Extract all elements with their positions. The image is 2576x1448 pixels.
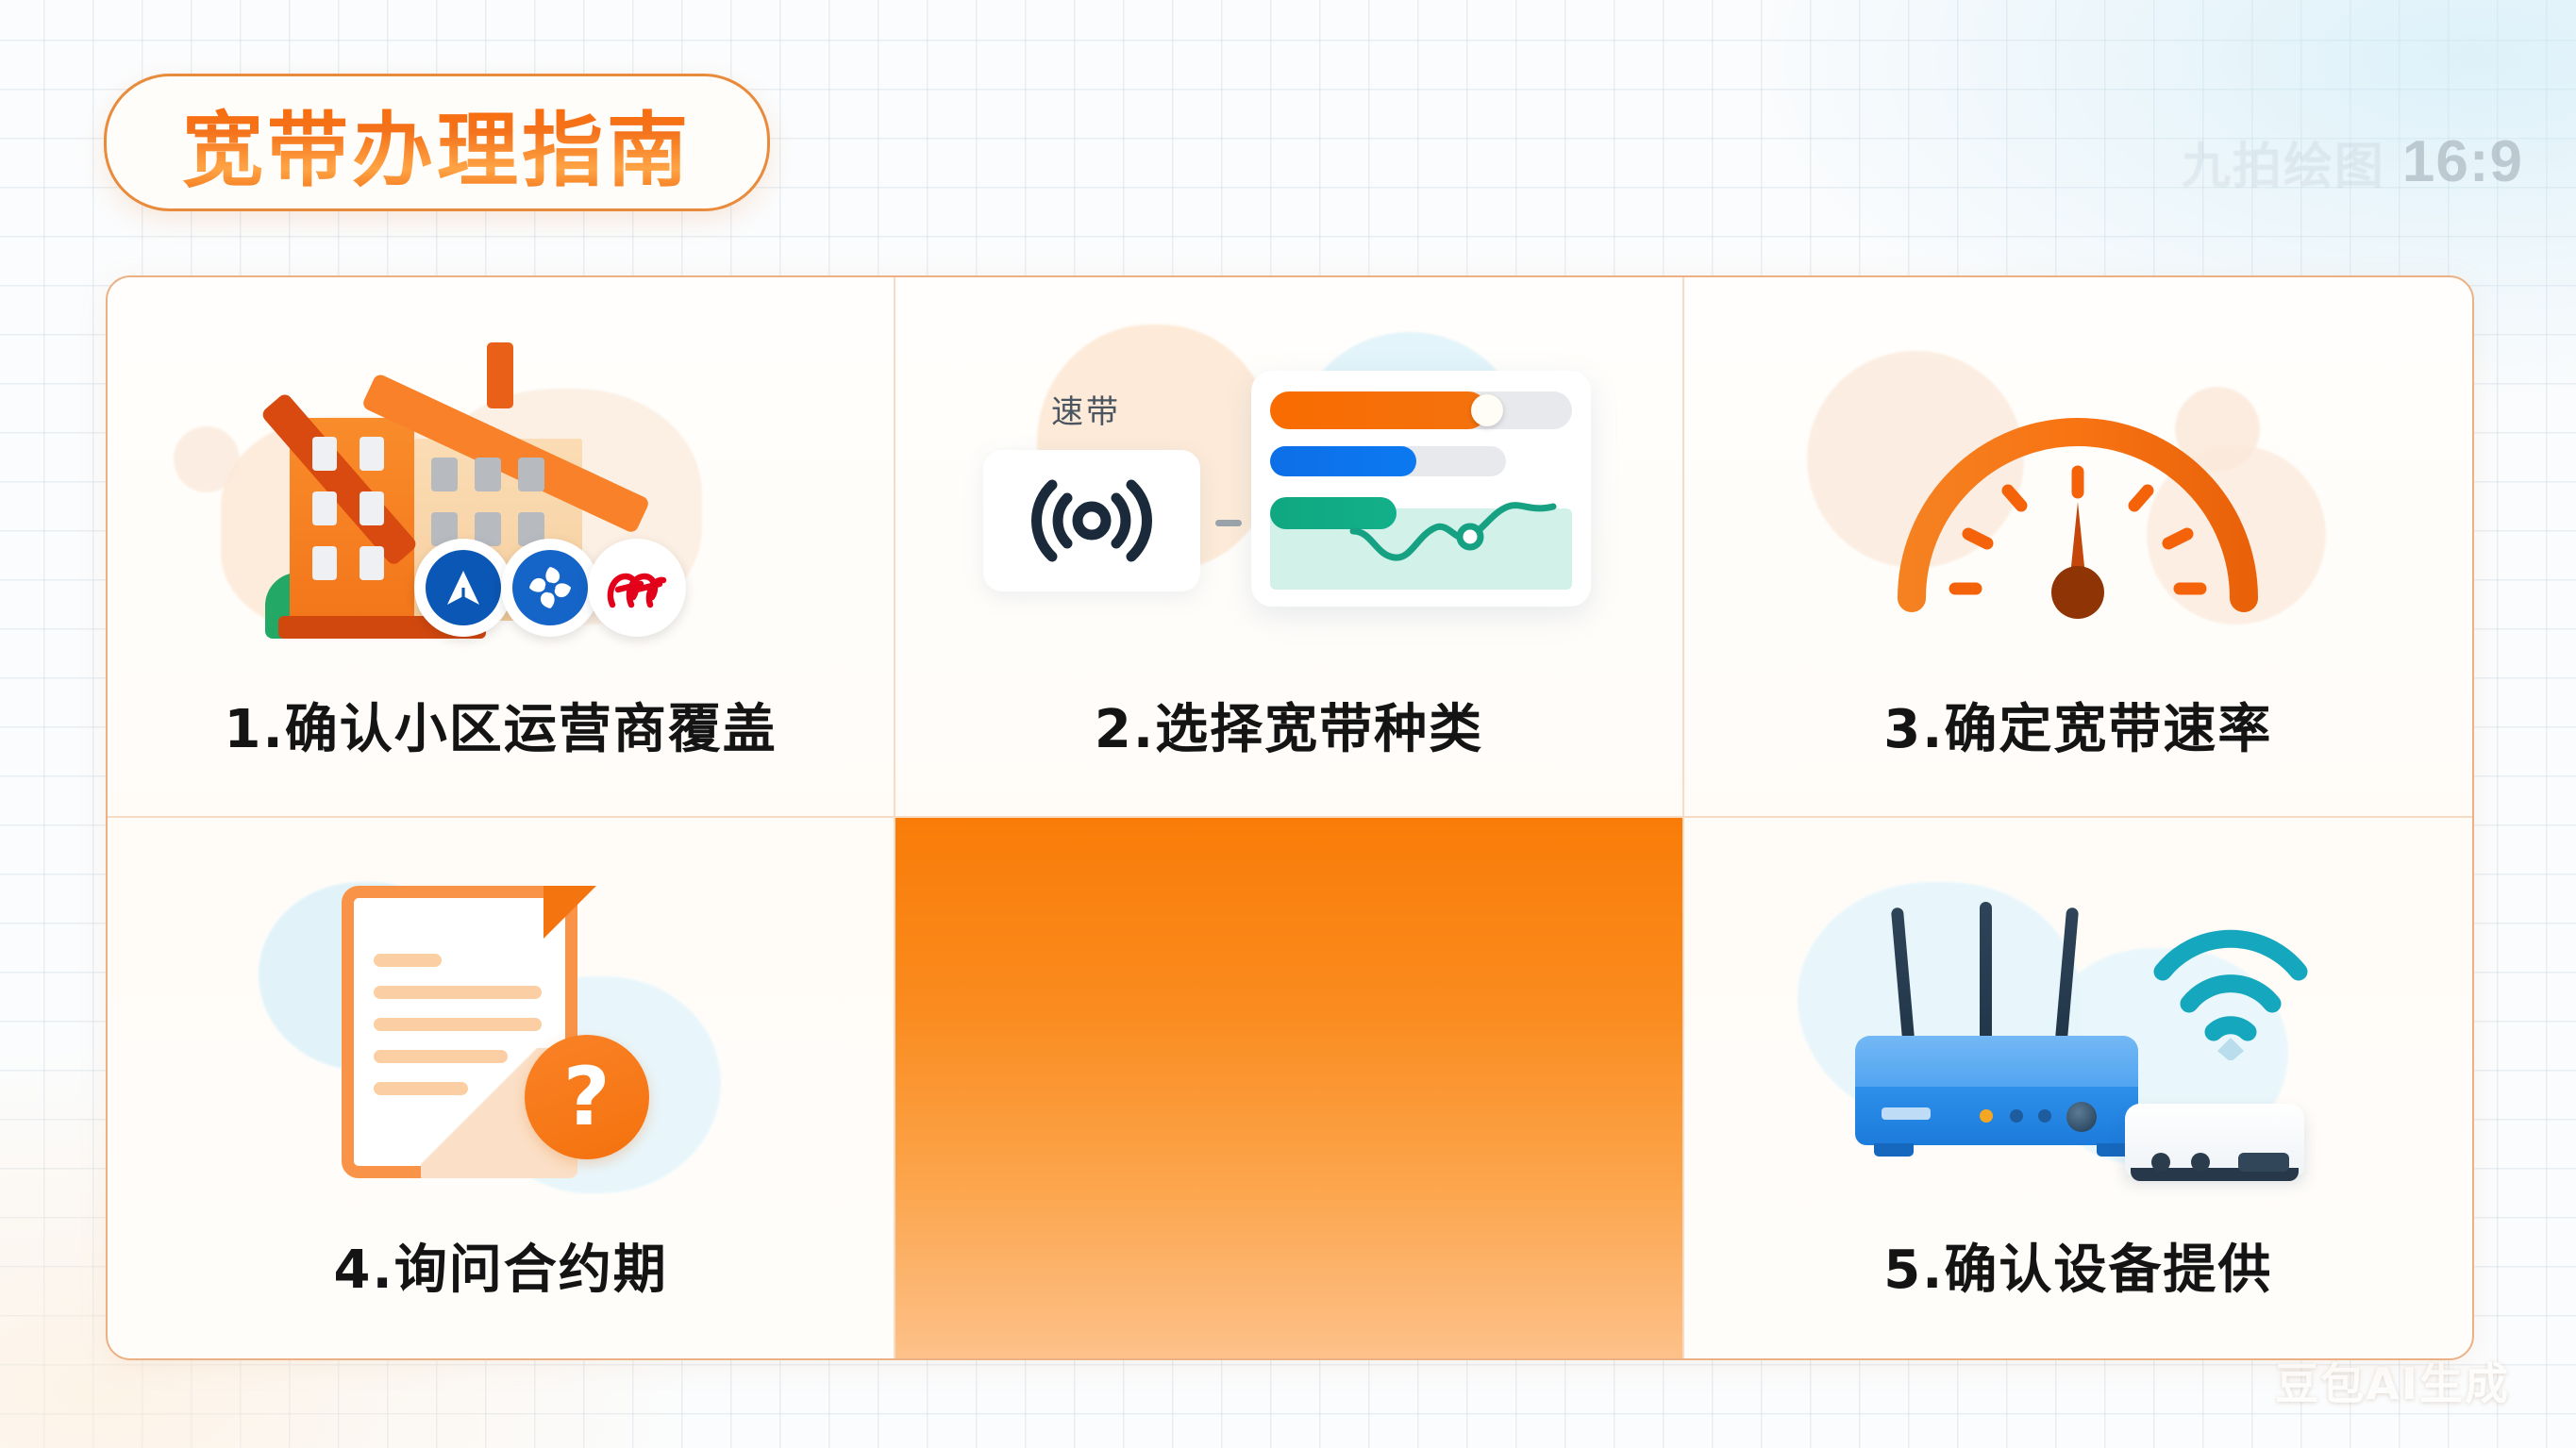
step-2-illustration: 速带 xyxy=(895,304,1681,681)
watermark-brand-text: 九拍绘图 xyxy=(2182,126,2385,197)
orange-gradient-block xyxy=(895,818,1681,1358)
page-title: 宽带办理指南 xyxy=(182,84,692,202)
document-icon: ? xyxy=(298,873,704,1193)
bar-row-blue xyxy=(1270,446,1506,476)
step-4-illustration: ? xyxy=(108,844,894,1222)
speedometer-icon xyxy=(1870,351,2285,634)
step-6-caption: 5.确认设备提供 xyxy=(1883,1227,2272,1304)
wifi-icon xyxy=(2146,919,2316,1060)
house-icon xyxy=(256,337,746,648)
step-card-6[interactable]: 5.确认设备提供 xyxy=(1684,818,2472,1358)
step-card-1[interactable]: 1.确认小区运营商覆盖 xyxy=(108,277,895,818)
step-3-illustration xyxy=(1684,304,2472,681)
china-telecom-logo-icon xyxy=(414,539,512,637)
watermark-top: 九拍绘图 16:9 xyxy=(2182,126,2523,197)
question-mark-glyph: ? xyxy=(563,1057,611,1138)
speed-line-chart xyxy=(1270,499,1572,590)
question-mark-badge: ? xyxy=(525,1035,649,1159)
router-top-shell xyxy=(1855,1036,2138,1090)
orange-bar-knob[interactable] xyxy=(1471,394,1503,426)
bar-row-orange xyxy=(1270,391,1572,429)
modem-slot xyxy=(2238,1153,2289,1172)
aspect-ratio-label: 16:9 xyxy=(2402,128,2523,195)
step-card-5[interactable] xyxy=(895,818,1683,1358)
panel-label-sudai: 速带 xyxy=(1051,386,1121,432)
step-2-caption: 2.选择宽带种类 xyxy=(1095,687,1483,763)
china-unicom-logo-icon xyxy=(501,539,599,637)
carrier-logo-group xyxy=(426,539,686,637)
connector-dash xyxy=(1215,520,1242,526)
step-3-caption: 3.确定宽带速率 xyxy=(1883,687,2272,763)
step-4-caption: 4.询问合约期 xyxy=(334,1227,668,1304)
document-fold-corner xyxy=(544,886,596,939)
step-1-illustration xyxy=(108,304,894,681)
blue-bar-fill xyxy=(1270,446,1416,476)
step-1-caption: 1.确认小区运营商覆盖 xyxy=(225,687,778,763)
step-card-4[interactable]: ? 4.询问合约期 xyxy=(108,818,895,1358)
orange-bar-fill xyxy=(1270,391,1487,429)
china-mobile-logo-icon xyxy=(588,539,686,637)
steps-grid: 1.确认小区运营商覆盖 速带 xyxy=(106,275,2474,1360)
page-title-pill: 宽带办理指南 xyxy=(104,74,770,211)
router-icon xyxy=(1814,877,2342,1189)
speed-panel xyxy=(1251,371,1591,607)
step-card-3[interactable]: 3.确定宽带速率 xyxy=(1684,277,2472,818)
step-6-illustration xyxy=(1684,844,2472,1222)
step-card-2[interactable]: 速带 xyxy=(895,277,1683,818)
wireless-signal-icon xyxy=(1026,475,1158,566)
router-vent-slot xyxy=(1882,1107,1931,1120)
wireless-signal-card xyxy=(983,450,1200,591)
chimney-shape xyxy=(487,342,513,408)
